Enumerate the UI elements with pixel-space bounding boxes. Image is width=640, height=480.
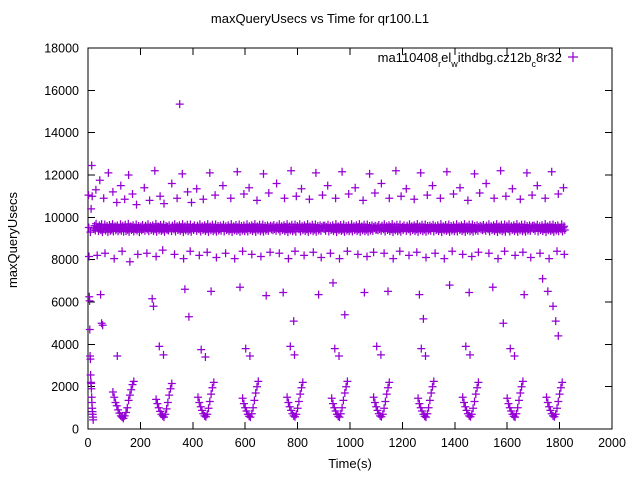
- chart-title: maxQueryUsecs vs Time for qr100.L1: [211, 11, 429, 26]
- x-tick-label: 1400: [441, 436, 469, 450]
- y-tick-label: 18000: [44, 42, 79, 56]
- x-tick-label: 1200: [388, 436, 416, 450]
- chart-container: maxQueryUsecs vs Time for qr100.L1 02000…: [0, 0, 640, 480]
- scatter-plot-svg: maxQueryUsecs vs Time for qr100.L1 02000…: [0, 0, 640, 480]
- y-tick-label: 10000: [44, 211, 79, 225]
- y-tick-label: 14000: [44, 126, 79, 140]
- x-tick-label: 1000: [336, 436, 364, 450]
- x-tick-label: 800: [287, 436, 308, 450]
- y-tick-label: 2000: [51, 380, 79, 394]
- x-tick-label: 600: [235, 436, 256, 450]
- y-tick-label: 12000: [44, 169, 79, 183]
- x-tick-label: 400: [182, 436, 203, 450]
- y-tick-label: 0: [72, 423, 79, 437]
- x-tick-label: 200: [130, 436, 151, 450]
- x-tick-label: 1600: [493, 436, 521, 450]
- x-tick-label: 1800: [546, 436, 574, 450]
- x-tick-label: 0: [85, 436, 92, 450]
- y-tick-label: 16000: [44, 84, 79, 98]
- y-axis-title: maxQueryUsecs: [5, 191, 20, 288]
- y-tick-label: 8000: [51, 253, 79, 267]
- y-tick-label: 4000: [51, 338, 79, 352]
- x-tick-label: 2000: [598, 436, 626, 450]
- x-axis-title: Time(s): [328, 456, 372, 471]
- y-tick-label: 6000: [51, 296, 79, 310]
